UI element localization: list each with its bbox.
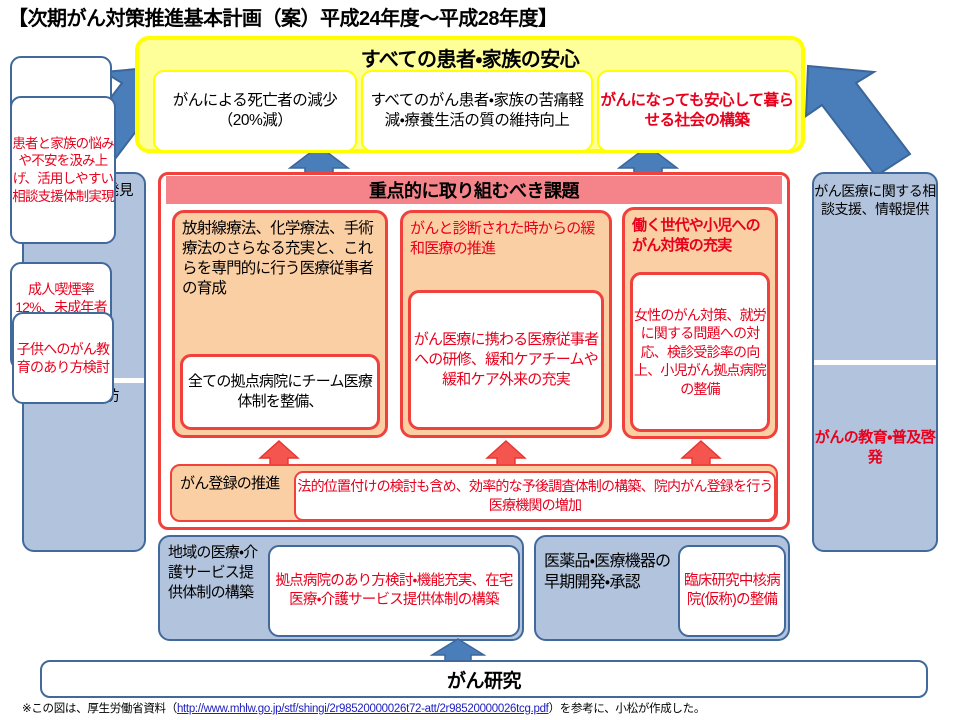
priority-column-card: 全ての拠点病院にチーム医療体制を整備、 bbox=[180, 354, 380, 430]
goal-card: すべてのがん患者・家族の苦痛軽減・療養生活の質の維持向上 bbox=[361, 70, 593, 152]
priority-issues-banner: 重点的に取り組むべき課題 bbox=[166, 176, 782, 204]
right-panel-card: 子供へのがん教育のあり方検討 bbox=[12, 312, 114, 404]
bottom-box: 医薬品・医療機器の早期開発・承認 臨床研究中核病院(仮称)の整備 bbox=[534, 535, 790, 641]
goal-card: がんによる死亡者の減少（20%減） bbox=[153, 70, 357, 152]
overall-goal-band: すべての患者・家族の安心 がんによる死亡者の減少（20%減） すべてのがん患者・… bbox=[135, 36, 805, 153]
footnote-url-link[interactable]: http://www.mhlw.go.jp/stf/shingi/2r98520… bbox=[177, 703, 549, 715]
cancer-registry-detail: 法的位置付けの検討も含め、効率的な予後調査体制の構築、院内がん登録を行う医療機関… bbox=[294, 471, 776, 521]
right-panel-heading: がん医療に関する相談支援、情報提供 bbox=[814, 182, 936, 218]
bottom-box-label: 地域の医療・介護サービス提供体制の構築 bbox=[168, 543, 264, 602]
bottom-box-card: 臨床研究中核病院(仮称)の整備 bbox=[678, 545, 786, 637]
arrow-up-left-diagonal-icon bbox=[800, 58, 920, 183]
priority-column-heading: 働く世代や小児へのがん対策の充実 bbox=[625, 216, 775, 255]
cancer-registry-label: がん登録の推進 bbox=[180, 474, 288, 494]
page-title: 【次期がん対策推進基本計画（案）平成24年度～平成28年度】 bbox=[8, 2, 708, 30]
bottom-box-label: 医薬品・医療機器の早期開発・承認 bbox=[544, 551, 674, 593]
bottom-box-card: 拠点病院のあり方検討・機能充実、在宅医療・介護サービス提供体制の構築 bbox=[268, 545, 520, 637]
footnote-suffix: ）を参考に、小松が作成した。 bbox=[549, 703, 705, 715]
cancer-registry-row: がん登録の推進 法的位置付けの検討も含め、効率的な予後調査体制の構築、院内がん登… bbox=[170, 464, 778, 522]
priority-column-heading: 放射線療法、化学療法、手術療法のさらなる充実と、これらを専門的に行う医療従事者の… bbox=[175, 219, 385, 300]
priority-column-card: がん医療に携わる医療従事者への研修、緩和ケアチームや緩和ケア外来の充実 bbox=[408, 290, 604, 430]
right-panel-divider bbox=[814, 360, 936, 365]
bottom-box: 地域の医療・介護サービス提供体制の構築 拠点病院のあり方検討・機能充実、在宅医療… bbox=[158, 535, 524, 641]
research-bar: がん研究 bbox=[40, 660, 928, 698]
priority-column-card: 女性のがん対策、就労に関する問題への対応、検診受診率の向上、小児がん拠点病院の整… bbox=[630, 272, 770, 432]
footnote: ※この図は、厚生労働省資料（http://www.mhlw.go.jp/stf/… bbox=[22, 700, 942, 718]
goal-band-title: すべての患者・家族の安心 bbox=[139, 43, 801, 72]
right-panel-heading: がんの教育・普及啓発 bbox=[814, 428, 936, 467]
footnote-prefix: ※この図は、厚生労働省資料（ bbox=[22, 703, 177, 715]
priority-column-heading: がんと診断された時からの緩和医療の推進 bbox=[403, 219, 609, 258]
right-panel-card: 患者と家族の悩みや不安を汲み上げ、活用しやすい相談支援体制実現 bbox=[10, 96, 116, 244]
goal-card: がんになっても安心して暮らせる社会の構築 bbox=[597, 70, 797, 152]
